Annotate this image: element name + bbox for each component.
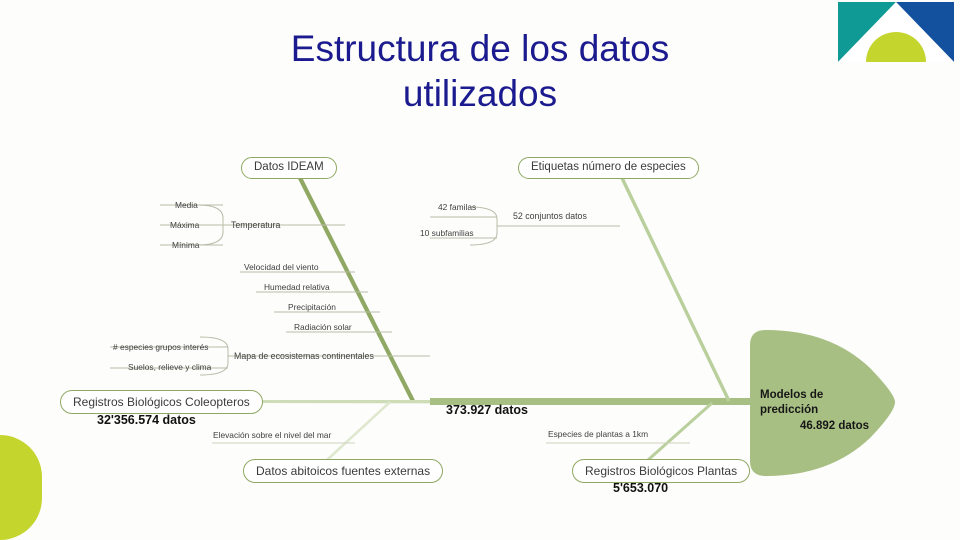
branch-line-datos-abitoicos bbox=[327, 402, 390, 460]
label-suelos-relieve-clima: Suelos, relieve y clima bbox=[128, 363, 211, 371]
count-modelos-prediccion: 46.892 datos bbox=[800, 421, 869, 433]
label-temperatura: Temperatura bbox=[231, 221, 280, 230]
slide-canvas: Estructura de los datos utilizados bbox=[0, 0, 960, 540]
label-humedad-relativa: Humedad relativa bbox=[264, 283, 330, 291]
label-precipitacion: Precipitación bbox=[288, 303, 336, 311]
label-radiacion-solar: Radiación solar bbox=[294, 323, 352, 331]
head-label-line-1: Modelos de bbox=[760, 388, 890, 403]
branch-line-plantas bbox=[648, 403, 712, 460]
label-elevacion-sobre-nivel-del-mar: Elevación sobre el nivel del mar bbox=[213, 431, 331, 439]
label-10-subfamilias: 10 subfamilias bbox=[420, 229, 474, 237]
count-plantas: 5'653.070 bbox=[613, 482, 668, 495]
head-label-line-2: predicción bbox=[760, 403, 890, 418]
label-minima: Mínima bbox=[172, 241, 199, 249]
node-registros-biologicos-plantas[interactable]: Registros Biológicos Plantas bbox=[572, 459, 750, 483]
label-52-conjuntos-datos: 52 conjuntos datos bbox=[513, 212, 587, 221]
count-coleopteros: 32'356.574 datos bbox=[97, 414, 196, 427]
node-etiquetas-numero-especies[interactable]: Etiquetas número de especies bbox=[518, 157, 699, 179]
label-media: Media bbox=[175, 201, 198, 209]
label-42-familas: 42 familas bbox=[438, 203, 476, 211]
label-mapa-ecosistemas-continentales: Mapa de ecosistemas continentales bbox=[234, 352, 374, 361]
brace-conjuntos-datos bbox=[470, 207, 497, 245]
node-registros-biologicos-coleopteros[interactable]: Registros Biológicos Coleopteros bbox=[60, 390, 263, 414]
node-datos-ideam[interactable]: Datos IDEAM bbox=[241, 157, 337, 179]
node-datos-abitoicos-fuentes-externas[interactable]: Datos abitoicos fuentes externas bbox=[243, 459, 443, 483]
label-especies-grupos-interes: # especies grupos interés bbox=[113, 343, 208, 351]
label-maxima: Máxima bbox=[170, 221, 199, 229]
count-spine-total: 373.927 datos bbox=[446, 404, 528, 417]
label-especies-plantas-1km: Especies de plantas a 1km bbox=[548, 430, 648, 438]
head-label: Modelos de predicción bbox=[760, 388, 890, 418]
fishbone-diagram bbox=[0, 0, 960, 540]
label-velocidad-del-viento: Velocidad del viento bbox=[244, 263, 319, 271]
branch-line-etiquetas bbox=[622, 178, 729, 401]
